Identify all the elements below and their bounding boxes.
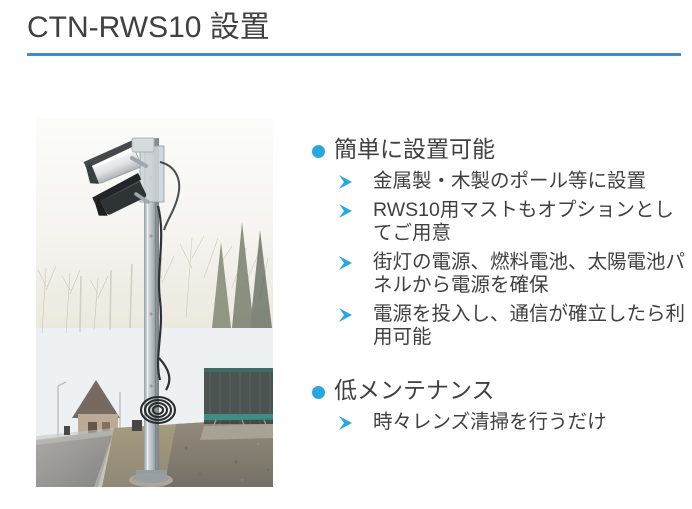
- page-title: CTN-RWS10 設置: [27, 8, 270, 48]
- bullet-heading-label: 簡単に設置可能: [334, 134, 688, 164]
- arrow-bullet-icon: [337, 307, 355, 323]
- bullet-dot-icon: [312, 145, 325, 158]
- bullet-heading: 簡単に設置可能: [310, 134, 688, 164]
- bullet-heading-label: 低メンテナンス: [334, 375, 688, 405]
- sub-bullet-label: 時々レンズ清掃を行うだけ: [373, 411, 688, 434]
- installation-photo-image: [36, 118, 273, 487]
- sub-bullet-label: 電源を投入し、通信が確立したら利用可能: [373, 303, 688, 349]
- sub-bullet-item: 街灯の電源、燃料電池、太陽電池パネルから電源を確保: [310, 251, 688, 297]
- group-spacer: [310, 349, 688, 375]
- sub-bullet-item: 時々レンズ清掃を行うだけ: [310, 411, 688, 434]
- arrow-bullet-icon: [337, 415, 355, 431]
- title-divider: [27, 53, 681, 56]
- bullet-heading: 低メンテナンス: [310, 375, 688, 405]
- bullet-dot-icon: [312, 386, 325, 399]
- sub-bullet-label: RWS10用マストもオプションとしてご用意: [373, 199, 688, 245]
- arrow-bullet-icon: [337, 203, 355, 219]
- bullet-list: 簡単に設置可能 金属製・木製のポール等に設置 RWS10用マストもオプションとし…: [310, 134, 688, 434]
- arrow-bullet-icon: [337, 255, 355, 271]
- sub-bullet-item: RWS10用マストもオプションとしてご用意: [310, 199, 688, 245]
- arrow-bullet-icon: [337, 174, 355, 190]
- sub-bullet-item: 金属製・木製のポール等に設置: [310, 170, 688, 193]
- sub-bullet-label: 街灯の電源、燃料電池、太陽電池パネルから電源を確保: [373, 251, 688, 297]
- sub-bullet-item: 電源を投入し、通信が確立したら利用可能: [310, 303, 688, 349]
- installation-photo: [36, 118, 273, 487]
- sub-bullet-label: 金属製・木製のポール等に設置: [373, 170, 688, 193]
